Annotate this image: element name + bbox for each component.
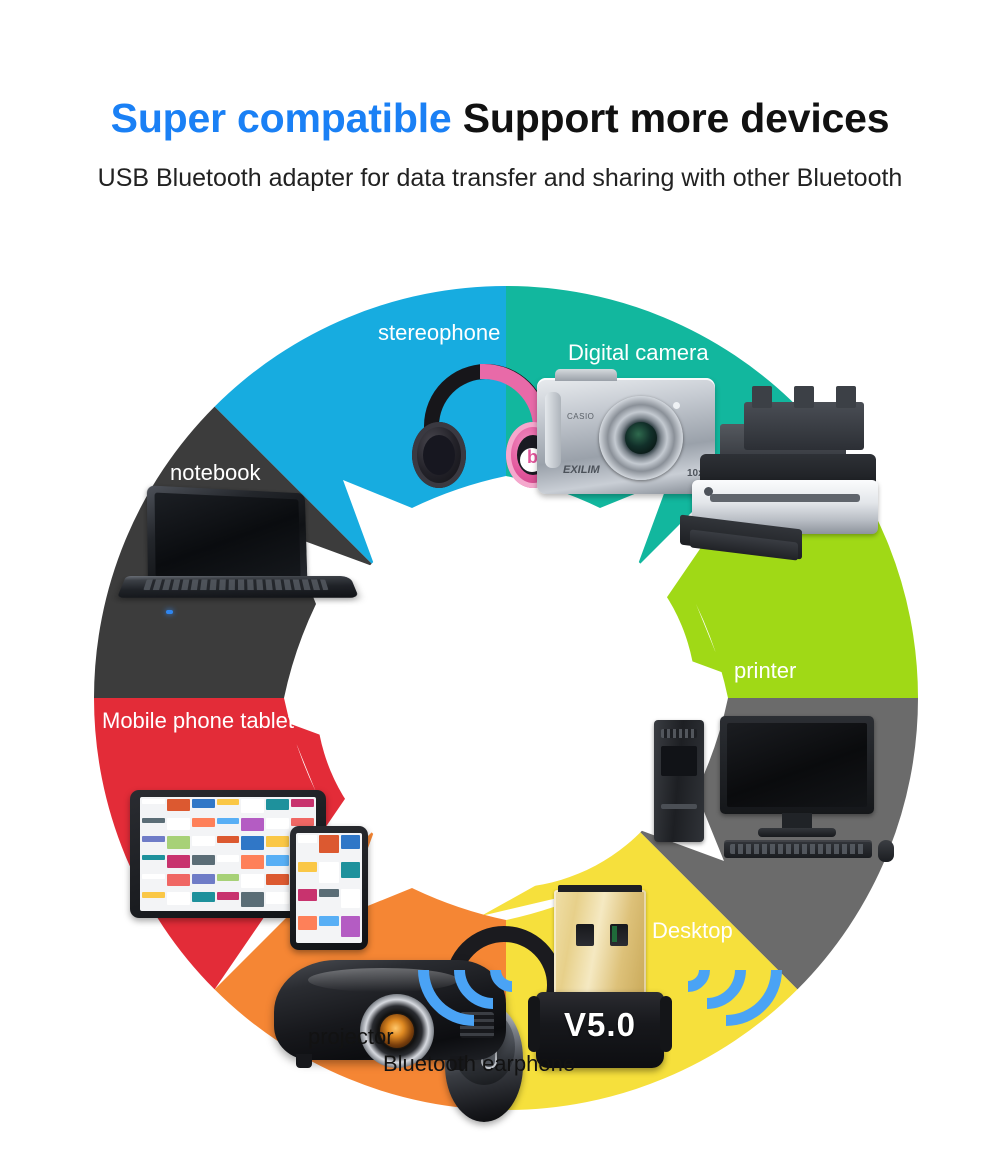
header: Super compatible Support more devices US… — [0, 0, 1000, 230]
thumbnail-tile — [192, 836, 215, 846]
thumbnail-tile — [341, 889, 360, 908]
thumbnail-tile — [167, 836, 190, 849]
thumbnail-tile — [241, 874, 264, 888]
thumbnail-tile — [298, 916, 317, 930]
thumbnail-tile — [319, 862, 338, 883]
wheel-center-disc — [316, 508, 696, 888]
thumbnail-tile — [291, 818, 314, 826]
desktop-computer-icon — [654, 716, 880, 864]
thumbnail-tile — [217, 874, 240, 881]
thumbnail-tile — [217, 892, 240, 899]
thumbnail-tile — [142, 799, 165, 804]
thumbnail-tile — [142, 892, 165, 898]
thumbnail-tile — [241, 799, 264, 813]
thumbnail-tile — [192, 799, 215, 808]
thumbnail-tile — [298, 862, 317, 872]
thumbnail-tile — [291, 799, 314, 807]
laptop-icon: lenovo — [126, 484, 350, 626]
thumbnail-tile — [217, 855, 240, 862]
headline-rest: Support more devices — [463, 95, 890, 141]
signal-arcs-right-icon — [660, 902, 756, 1038]
thumbnail-tile — [192, 818, 215, 827]
usb-bluetooth-dongle: V5.0 — [440, 878, 760, 1090]
thumbnail-tile — [341, 835, 360, 849]
thumbnail-tile — [167, 874, 190, 887]
dongle-body: V5.0 — [536, 992, 664, 1068]
thumbnail-tile — [298, 835, 317, 843]
thumbnail-tile — [142, 874, 165, 880]
thumbnail-tile — [192, 855, 215, 865]
thumbnail-tile — [167, 892, 190, 905]
thumbnail-tile — [167, 818, 190, 830]
thumbnail-tile — [241, 855, 264, 869]
phone-icon — [290, 826, 368, 950]
thumbnail-tile — [298, 889, 317, 901]
page-subtitle: USB Bluetooth adapter for data transfer … — [0, 166, 1000, 191]
thumbnail-tile — [142, 855, 165, 861]
version-label: V5.0 — [536, 1008, 664, 1041]
thumbnail-tile — [241, 892, 264, 907]
thumbnail-tile — [266, 836, 289, 847]
thumbnail-tile — [319, 889, 338, 897]
thumbnail-tile — [217, 818, 240, 825]
thumbnail-tile — [266, 855, 289, 866]
thumbnail-tile — [319, 835, 338, 853]
printer-icon — [686, 402, 892, 574]
thumbnail-tile — [167, 799, 190, 811]
thumbnail-tile — [167, 855, 190, 868]
product-infographic-page: Super compatible Support more devices US… — [0, 0, 1000, 1151]
thumbnail-tile — [266, 799, 289, 810]
headline-accent: Super compatible — [111, 95, 452, 141]
thumbnail-tile — [192, 874, 215, 884]
thumbnail-tile — [192, 892, 215, 902]
compatibility-wheel: CASIO EXILIM 10x — [94, 286, 918, 1110]
thumbnail-tile — [142, 836, 165, 841]
thumbnail-tile — [266, 874, 289, 886]
thumbnail-tile — [266, 892, 289, 904]
thumbnail-tile — [241, 818, 264, 832]
thumbnail-tile — [341, 916, 360, 937]
signal-arcs-left-icon — [444, 902, 540, 1038]
thumbnail-tile — [142, 818, 165, 823]
thumbnail-tile — [266, 818, 289, 829]
thumbnail-tile — [319, 916, 338, 926]
page-title: Super compatible Support more devices — [0, 98, 1000, 139]
thumbnail-tile — [241, 836, 264, 850]
thumbnail-tile — [341, 862, 360, 878]
thumbnail-tile — [217, 799, 240, 805]
usb-connector — [554, 890, 646, 998]
thumbnail-tile — [217, 836, 240, 843]
